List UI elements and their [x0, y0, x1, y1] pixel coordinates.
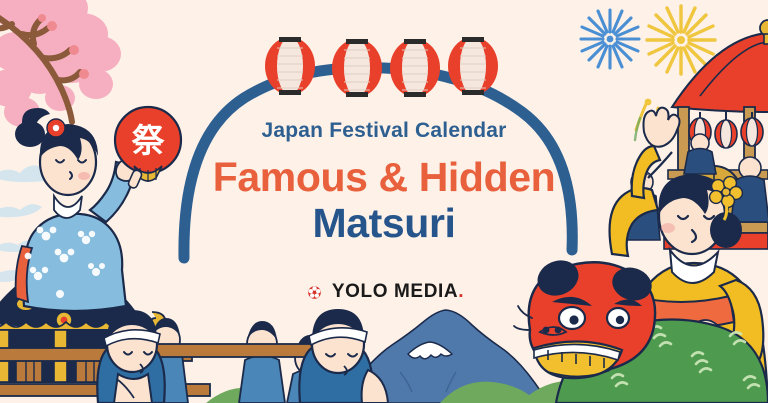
lantern-4 — [448, 37, 498, 95]
lantern-3 — [390, 39, 440, 97]
brand-logo[interactable]: YOLO MEDIA. — [0, 281, 768, 303]
logo-label: YOLO MEDIA — [332, 281, 458, 302]
lantern-1 — [265, 37, 315, 95]
paper-lanterns — [0, 0, 768, 403]
logo-period: . — [458, 281, 464, 302]
lantern-2 — [332, 39, 382, 97]
festival-banner: 祭 — [0, 0, 768, 403]
logo-wordmark: YOLO MEDIA. — [332, 281, 464, 303]
red-yellow-flower-mark — [304, 282, 325, 303]
